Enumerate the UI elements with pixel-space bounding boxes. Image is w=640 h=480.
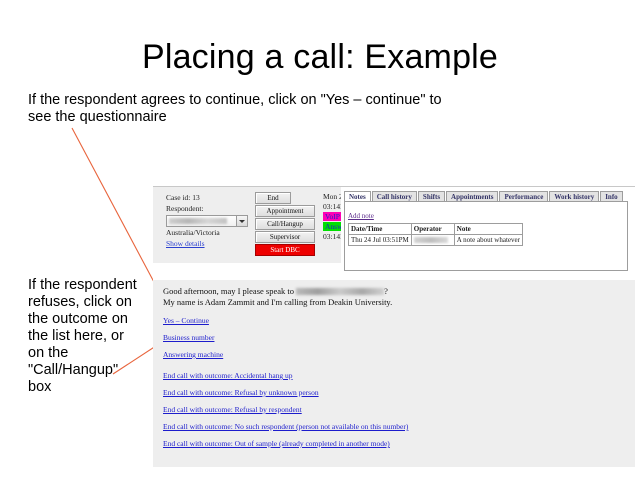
script-line-2: My name is Adam Zammit and I'm calling f… bbox=[163, 297, 635, 308]
annotation-top-text: If the respondent agrees to continue, cl… bbox=[28, 92, 458, 126]
case-id-label: Case id: 13 bbox=[166, 193, 258, 204]
link-outcome-no-such-respondent[interactable]: End call with outcome: No such responden… bbox=[163, 422, 408, 431]
operator-info-panel: Notes Call history Shifts Appointments P… bbox=[341, 187, 635, 277]
table-row[interactable]: Thu 24 Jul 03:51PM A note about whatever bbox=[349, 235, 523, 246]
end-button[interactable]: End bbox=[255, 192, 291, 204]
table-header-row: Date/Time Operator Note bbox=[349, 224, 523, 235]
start-dbc-button[interactable]: Start DBC bbox=[255, 244, 315, 256]
chevron-down-icon[interactable] bbox=[236, 216, 247, 226]
script-line-1-after: ? bbox=[384, 286, 388, 296]
call-control-strip: Case id: 13 Respondent: Australia/Victor… bbox=[153, 186, 635, 263]
link-outcome-refusal-unknown-person[interactable]: End call with outcome: Refusal by unknow… bbox=[163, 388, 319, 397]
cell-note: A note about whatever bbox=[454, 235, 522, 246]
embedded-app-screenshot: Case id: 13 Respondent: Australia/Victor… bbox=[153, 186, 635, 467]
respondent-select[interactable] bbox=[166, 215, 248, 227]
appointment-button[interactable]: Appointment bbox=[255, 205, 315, 217]
link-outcome-accidental-hangup[interactable]: End call with outcome: Accidental hang u… bbox=[163, 371, 293, 380]
respondent-name-redacted bbox=[296, 288, 384, 295]
column-operator: Operator bbox=[411, 224, 454, 235]
add-note-link[interactable]: Add note bbox=[348, 212, 374, 220]
arrow-to-yes-continue bbox=[72, 128, 163, 299]
call-hangup-button[interactable]: Call/Hangup bbox=[255, 218, 315, 230]
respondent-label: Respondent: bbox=[166, 204, 258, 215]
annotation-left-text: If the respondent refuses, click on the … bbox=[28, 277, 140, 396]
column-note: Note bbox=[454, 224, 522, 235]
script-line-1: Good afternoon, may I please speak to ? bbox=[163, 286, 635, 297]
call-action-buttons: End Appointment Call/Hangup Supervisor S… bbox=[255, 192, 317, 257]
call-script-area: Good afternoon, may I please speak to ? … bbox=[153, 280, 635, 467]
timezone-label: Australia/Victoria bbox=[166, 228, 258, 239]
link-answering-machine[interactable]: Answering machine bbox=[163, 350, 223, 359]
supervisor-button[interactable]: Supervisor bbox=[255, 231, 315, 243]
show-details-link[interactable]: Show details bbox=[166, 239, 258, 250]
case-info-block: Case id: 13 Respondent: Australia/Victor… bbox=[166, 193, 258, 249]
notes-tab-body: Add note Date/Time Operator Note Thu 24 … bbox=[344, 201, 628, 271]
column-datetime: Date/Time bbox=[349, 224, 412, 235]
notes-table: Date/Time Operator Note Thu 24 Jul 03:51… bbox=[348, 223, 523, 246]
page-title: Placing a call: Example bbox=[0, 38, 640, 77]
link-business-number[interactable]: Business number bbox=[163, 333, 214, 342]
link-outcome-out-of-sample[interactable]: End call with outcome: Out of sample (al… bbox=[163, 439, 390, 448]
cell-operator-redacted bbox=[411, 235, 454, 246]
link-outcome-refusal-by-respondent[interactable]: End call with outcome: Refusal by respon… bbox=[163, 405, 302, 414]
link-yes-continue[interactable]: Yes – Continue bbox=[163, 316, 209, 325]
respondent-value-redacted bbox=[169, 218, 227, 224]
cell-datetime: Thu 24 Jul 03:51PM bbox=[349, 235, 412, 246]
script-line-1-before: Good afternoon, may I please speak to bbox=[163, 286, 296, 296]
